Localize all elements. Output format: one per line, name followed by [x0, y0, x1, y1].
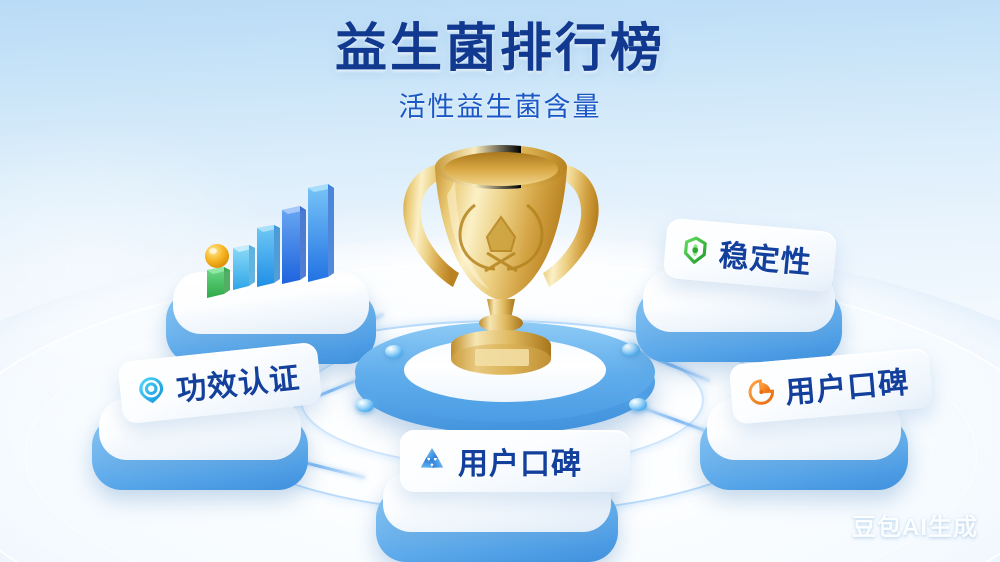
- page-subtitle: 活性益生菌含量: [0, 85, 1000, 124]
- sphere-marker: [205, 244, 229, 268]
- watermark-label: 豆包AI生成: [852, 507, 978, 542]
- location-pin-icon: [135, 374, 168, 407]
- bar-1-cube: [207, 267, 230, 298]
- trophy-nameplate: [475, 349, 529, 366]
- network-node-n: [385, 345, 403, 358]
- bar-3: [257, 225, 280, 287]
- illustration-stage: 功效认证 稳定性 用户口碑: [0, 0, 1000, 562]
- card-koubei-right-label: 用户口碑: [783, 357, 910, 412]
- network-node-nw: [356, 399, 374, 412]
- bar-2: [233, 245, 255, 290]
- card-koubei-bottom-label: 用户口碑: [458, 439, 582, 483]
- clock-pie-icon: [746, 377, 776, 407]
- network-node-e: [629, 398, 647, 411]
- header-block: 益生菌排行榜 活性益生菌含量: [0, 22, 1000, 124]
- card-gongxiao-label: 功效认证: [174, 353, 302, 410]
- recycle-icon: [416, 445, 448, 477]
- page-title: 益生菌排行榜: [0, 22, 1000, 77]
- recycle-leaf-icon: [680, 235, 710, 265]
- gold-trophy-icon: [383, 133, 619, 383]
- trophy-inner: [444, 152, 558, 186]
- bar-5: [308, 184, 334, 282]
- bar-4: [282, 206, 306, 284]
- bar-chart-3d: [186, 170, 356, 305]
- card-yonghu-koubei-bottom[interactable]: 用户口碑: [400, 430, 630, 492]
- card-wending-label: 稳定性: [717, 230, 813, 282]
